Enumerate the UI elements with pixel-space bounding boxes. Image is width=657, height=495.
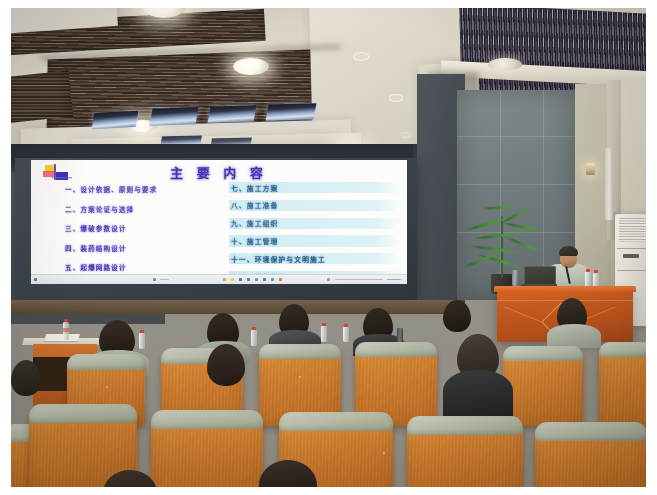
slide-item-right-1: 七、施工方案 — [229, 182, 401, 193]
seat-row2-5-headrest — [503, 346, 583, 361]
slide-right-column: 七、施工方案 八、施工准备 九、施工组织 十、施工管理 十一、环境保护与文明施工… — [229, 182, 401, 284]
taskbar-icon-5[interactable] — [247, 278, 250, 281]
ceiling-light-center — [233, 58, 269, 75]
ceiling-troffer-1 — [92, 111, 138, 129]
slide-item-right-5: 十一、环境保护与文明施工 — [229, 253, 401, 264]
stage-floor-strip — [11, 300, 455, 314]
air-conditioner-grille — [619, 218, 646, 242]
slide-item-left-3: 三、爆破参数设计 — [65, 223, 233, 233]
seat-row2-3-headrest — [259, 344, 341, 359]
windows-taskbar[interactable] — [31, 274, 407, 284]
audience-bottle-3 — [321, 326, 327, 342]
recessed-downlight-1 — [353, 52, 369, 61]
taskbar-icon-3[interactable] — [231, 278, 234, 281]
audience-head-far-5 — [443, 300, 471, 332]
audience-head-mid-2 — [207, 344, 245, 386]
taskbar-icon-9[interactable] — [279, 278, 282, 281]
podium-thermos — [512, 270, 518, 286]
audience-bottle-2 — [251, 330, 257, 346]
slide-item-left-5: 五、起爆网路设计 — [65, 262, 233, 272]
seat-row1-4-headrest — [279, 412, 393, 431]
ceiling-troffer-3 — [208, 105, 257, 123]
slide-item-left-4: 四、装药结构设计 — [65, 243, 233, 253]
slide-item-right-2: 八、施工准备 — [229, 200, 401, 211]
ceiling-troffer-4 — [266, 103, 317, 120]
audience-bottle-cap-4 — [344, 324, 348, 327]
slide-item-right-4: 十、施工管理 — [229, 235, 401, 246]
taskbar-tray-icon-1[interactable] — [327, 278, 330, 281]
taskbar-icon-1[interactable] — [153, 278, 156, 281]
taskbar-icon-start[interactable] — [34, 278, 37, 281]
conference-hall-photo: 主 要 内 容 一、设计依据、原则与要求 二、方案论证与选择 三、爆破参数设计 … — [11, 8, 646, 487]
air-conditioner-pipe — [605, 148, 613, 220]
taskbar-tray-dots — [335, 279, 383, 280]
audience-bottle-1 — [139, 333, 145, 349]
slide-item-right-3: 九、施工组织 — [229, 218, 401, 229]
taskbar-icon-7[interactable] — [263, 278, 266, 281]
side-table-papers — [44, 334, 80, 341]
air-conditioner-seam-2 — [617, 270, 646, 271]
audience-bottle-cap-2 — [252, 327, 256, 330]
presentation-slide: 主 要 内 容 一、设计依据、原则与要求 二、方案论证与选择 三、爆破参数设计 … — [31, 160, 407, 284]
taskbar-icon-6[interactable] — [255, 278, 258, 281]
taskbar-icon-8[interactable] — [271, 278, 274, 281]
plant-stem-main — [501, 216, 503, 278]
wall-panel-seam-h1 — [457, 136, 575, 137]
presenter-hair — [559, 246, 578, 256]
seat-row2-4-headrest — [355, 342, 437, 357]
audience-shoulders-far-6 — [547, 324, 601, 348]
recessed-downlight-3 — [401, 132, 411, 138]
ceiling-slat-panel-lower-left — [11, 70, 73, 123]
taskbar-icon-2[interactable] — [223, 278, 226, 281]
seat-row1-3-headrest — [151, 410, 263, 429]
podium-bottle-cap-1 — [586, 269, 590, 272]
audience-bottle-4 — [343, 327, 349, 342]
air-conditioner-seam-1 — [617, 248, 646, 249]
audience-shoulders-mid-1 — [443, 370, 513, 416]
podium-bottle-cap-2 — [594, 270, 598, 273]
photograph-scene: 主 要 内 容 一、设计依据、原则与要求 二、方案论证与选择 三、爆破参数设计 … — [0, 0, 657, 495]
audience-bottle-cap-1 — [140, 330, 144, 333]
audience-bottle-cap-3 — [322, 323, 326, 326]
taskbar-label-1 — [160, 279, 169, 280]
slide-item-left-1: 一、设计依据、原则与要求 — [65, 184, 233, 194]
taskbar-icon-4[interactable] — [239, 278, 242, 281]
recessed-downlight-2 — [389, 94, 403, 102]
seat-row2-6-headrest — [599, 342, 646, 357]
slide-left-column: 一、设计依据、原则与要求 二、方案论证与选择 三、爆破参数设计 四、装药结构设计… — [65, 184, 233, 284]
seat-row2-1-headrest — [67, 354, 145, 370]
wall-sconce-light — [586, 163, 595, 175]
seat-row1-2-headrest — [29, 404, 137, 423]
podium-top-lip — [494, 286, 636, 292]
side-table-bottle-cap — [64, 319, 68, 322]
seat-row1-5-headrest — [407, 416, 523, 435]
ceiling-troffer-2 — [150, 107, 199, 126]
air-conditioner-badge — [623, 254, 639, 258]
seat-row1-6-headrest — [535, 422, 646, 441]
slide-item-left-2: 二、方案论证与选择 — [65, 204, 233, 214]
ceiling-light-right-1 — [488, 58, 522, 71]
wall-panel-seam-h2 — [457, 184, 575, 185]
taskbar-clock[interactable] — [387, 279, 401, 280]
audience-head-mid-3 — [11, 360, 41, 396]
side-table-bottle-label — [63, 328, 69, 332]
slide-title: 主 要 内 容 — [31, 163, 407, 182]
